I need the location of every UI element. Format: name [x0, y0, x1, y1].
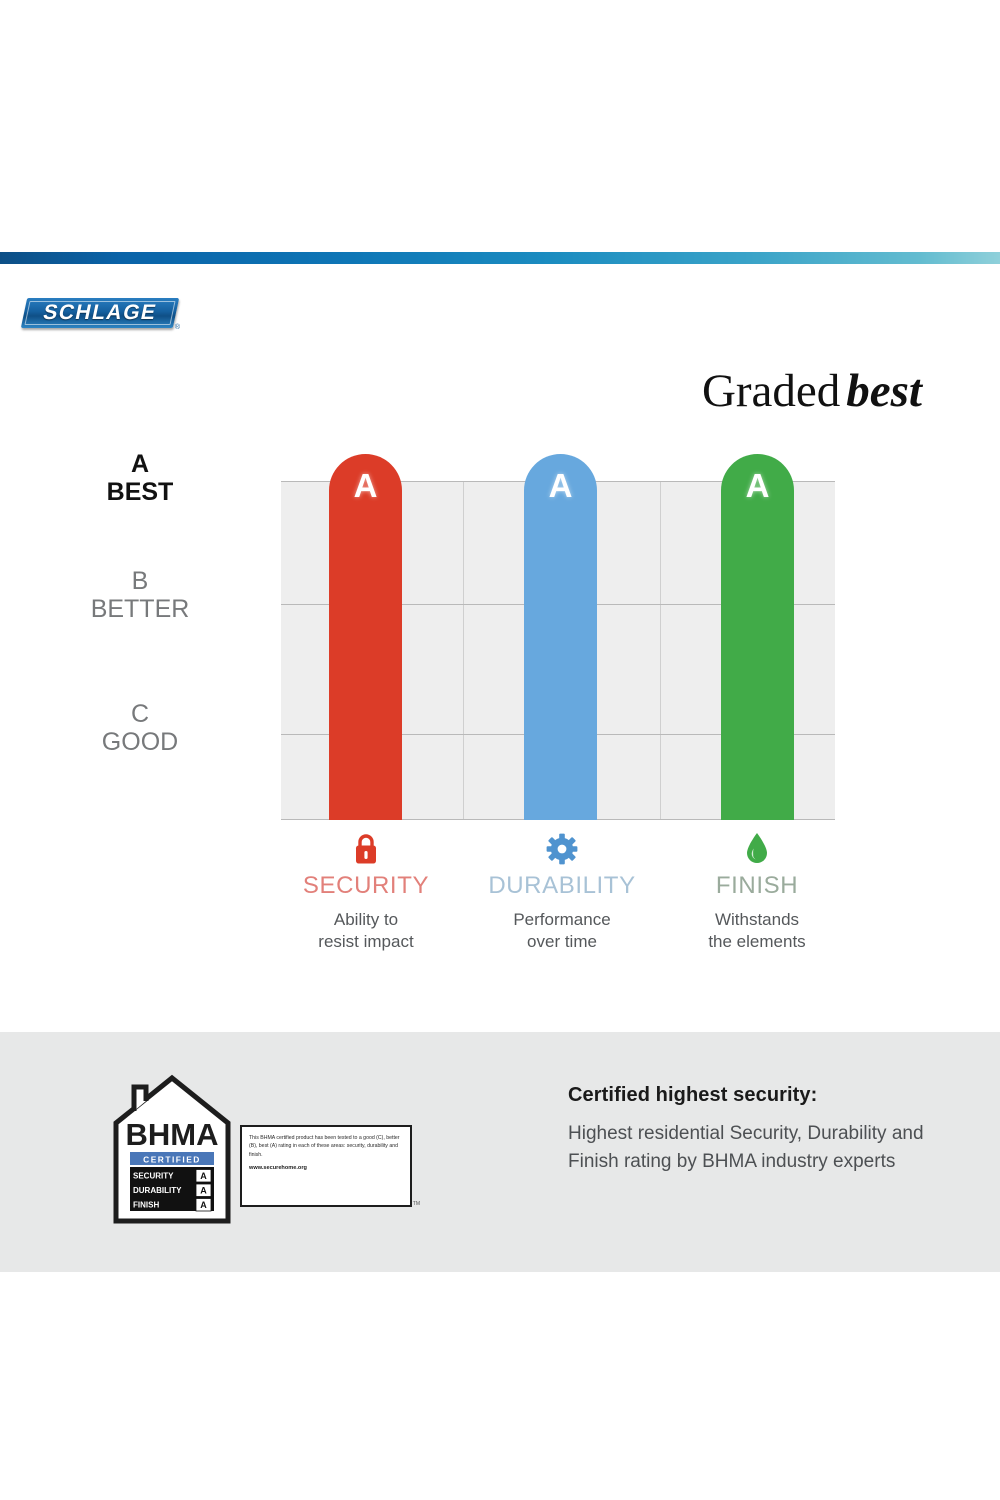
- bhma-brand-text: BHMA: [126, 1117, 219, 1152]
- bhma-house-icon: BHMA CERTIFIED SECURITY A DURABILITY A F…: [112, 1073, 232, 1225]
- bhma-trademark: TM: [413, 1201, 420, 1207]
- category-durability-desc-line1: Performance: [462, 909, 662, 931]
- certification-copy: Certified highest security: Highest resi…: [568, 1084, 948, 1175]
- axis-tier-c-grade: C: [20, 700, 260, 728]
- bar-finish-grade: A: [746, 469, 770, 502]
- bhma-url[interactable]: www.securehome.org: [249, 1165, 404, 1171]
- category-security-desc: Ability to resist impact: [266, 909, 466, 954]
- category-security-title: SECURITY: [266, 872, 466, 900]
- schlage-logo: SCHLAGE ®: [24, 298, 176, 330]
- axis-tier-b-grade: B: [20, 567, 260, 595]
- category-security-desc-line2: resist impact: [266, 931, 466, 953]
- bar-durability-grade: A: [549, 469, 573, 502]
- bhma-row-label-durability: DURABILITY: [133, 1186, 182, 1195]
- bhma-row-rating-durability: A: [200, 1186, 207, 1196]
- bhma-row-rating-security: A: [200, 1171, 207, 1181]
- axis-tier-a-word: BEST: [20, 478, 260, 506]
- bar-finish[interactable]: A: [721, 454, 794, 820]
- certification-heading: Certified highest security:: [568, 1084, 948, 1107]
- axis-tier-a-grade: A: [20, 450, 260, 478]
- headline-regular: Graded: [702, 365, 840, 417]
- bhma-note-text: This BHMA certified product has been tes…: [249, 1134, 404, 1159]
- bar-security[interactable]: A: [329, 454, 402, 820]
- axis-tier-b: B BETTER: [20, 567, 260, 623]
- bhma-row-rating-finish: A: [200, 1200, 207, 1210]
- bhma-certification-mark: BHMA CERTIFIED SECURITY A DURABILITY A F…: [112, 1073, 422, 1225]
- axis-tier-b-word: BETTER: [20, 595, 260, 623]
- bhma-note-box: This BHMA certified product has been tes…: [240, 1125, 412, 1207]
- category-durability-desc: Performance over time: [462, 909, 662, 954]
- category-durability-title: DURABILITY: [462, 872, 662, 900]
- bhma-row-label-security: SECURITY: [133, 1172, 174, 1181]
- category-finish-title: FINISH: [657, 872, 857, 900]
- category-finish-desc-line2: the elements: [657, 931, 857, 953]
- gridline-vertical-4: [660, 481, 661, 820]
- category-durability-desc-line2: over time: [462, 931, 662, 953]
- page-title: Gradedbest: [0, 364, 922, 418]
- water-drop-icon: [657, 830, 857, 868]
- category-finish-desc-line1: Withstands: [657, 909, 857, 931]
- bar-security-grade: A: [354, 469, 378, 502]
- category-durability: DURABILITY Performance over time: [462, 830, 662, 954]
- gear-icon: [462, 830, 662, 868]
- lock-icon: [266, 830, 466, 868]
- grade-bar-chart: A A A: [281, 481, 835, 820]
- infographic-page: SCHLAGE ® Gradedbest A BEST B BETTER C G…: [0, 0, 1000, 1500]
- category-finish-desc: Withstands the elements: [657, 909, 857, 954]
- gridline-vertical-2: [463, 481, 464, 820]
- category-finish: FINISH Withstands the elements: [657, 830, 857, 954]
- axis-tier-a: A BEST: [20, 450, 260, 506]
- category-security-desc-line1: Ability to: [266, 909, 466, 931]
- top-gradient-rule: [0, 252, 1000, 264]
- axis-tier-c-word: GOOD: [20, 728, 260, 756]
- certification-body: Highest residential Security, Durability…: [568, 1120, 948, 1175]
- axis-tier-c: C GOOD: [20, 700, 260, 756]
- logo-wordmark: SCHLAGE: [21, 298, 179, 328]
- bar-durability[interactable]: A: [524, 454, 597, 820]
- bhma-row-label-finish: FINISH: [133, 1201, 159, 1210]
- headline-emphasis: best: [846, 365, 922, 417]
- bhma-certified-bar: CERTIFIED: [143, 1154, 201, 1164]
- logo-registered-mark: ®: [175, 324, 180, 331]
- category-security: SECURITY Ability to resist impact: [266, 830, 466, 954]
